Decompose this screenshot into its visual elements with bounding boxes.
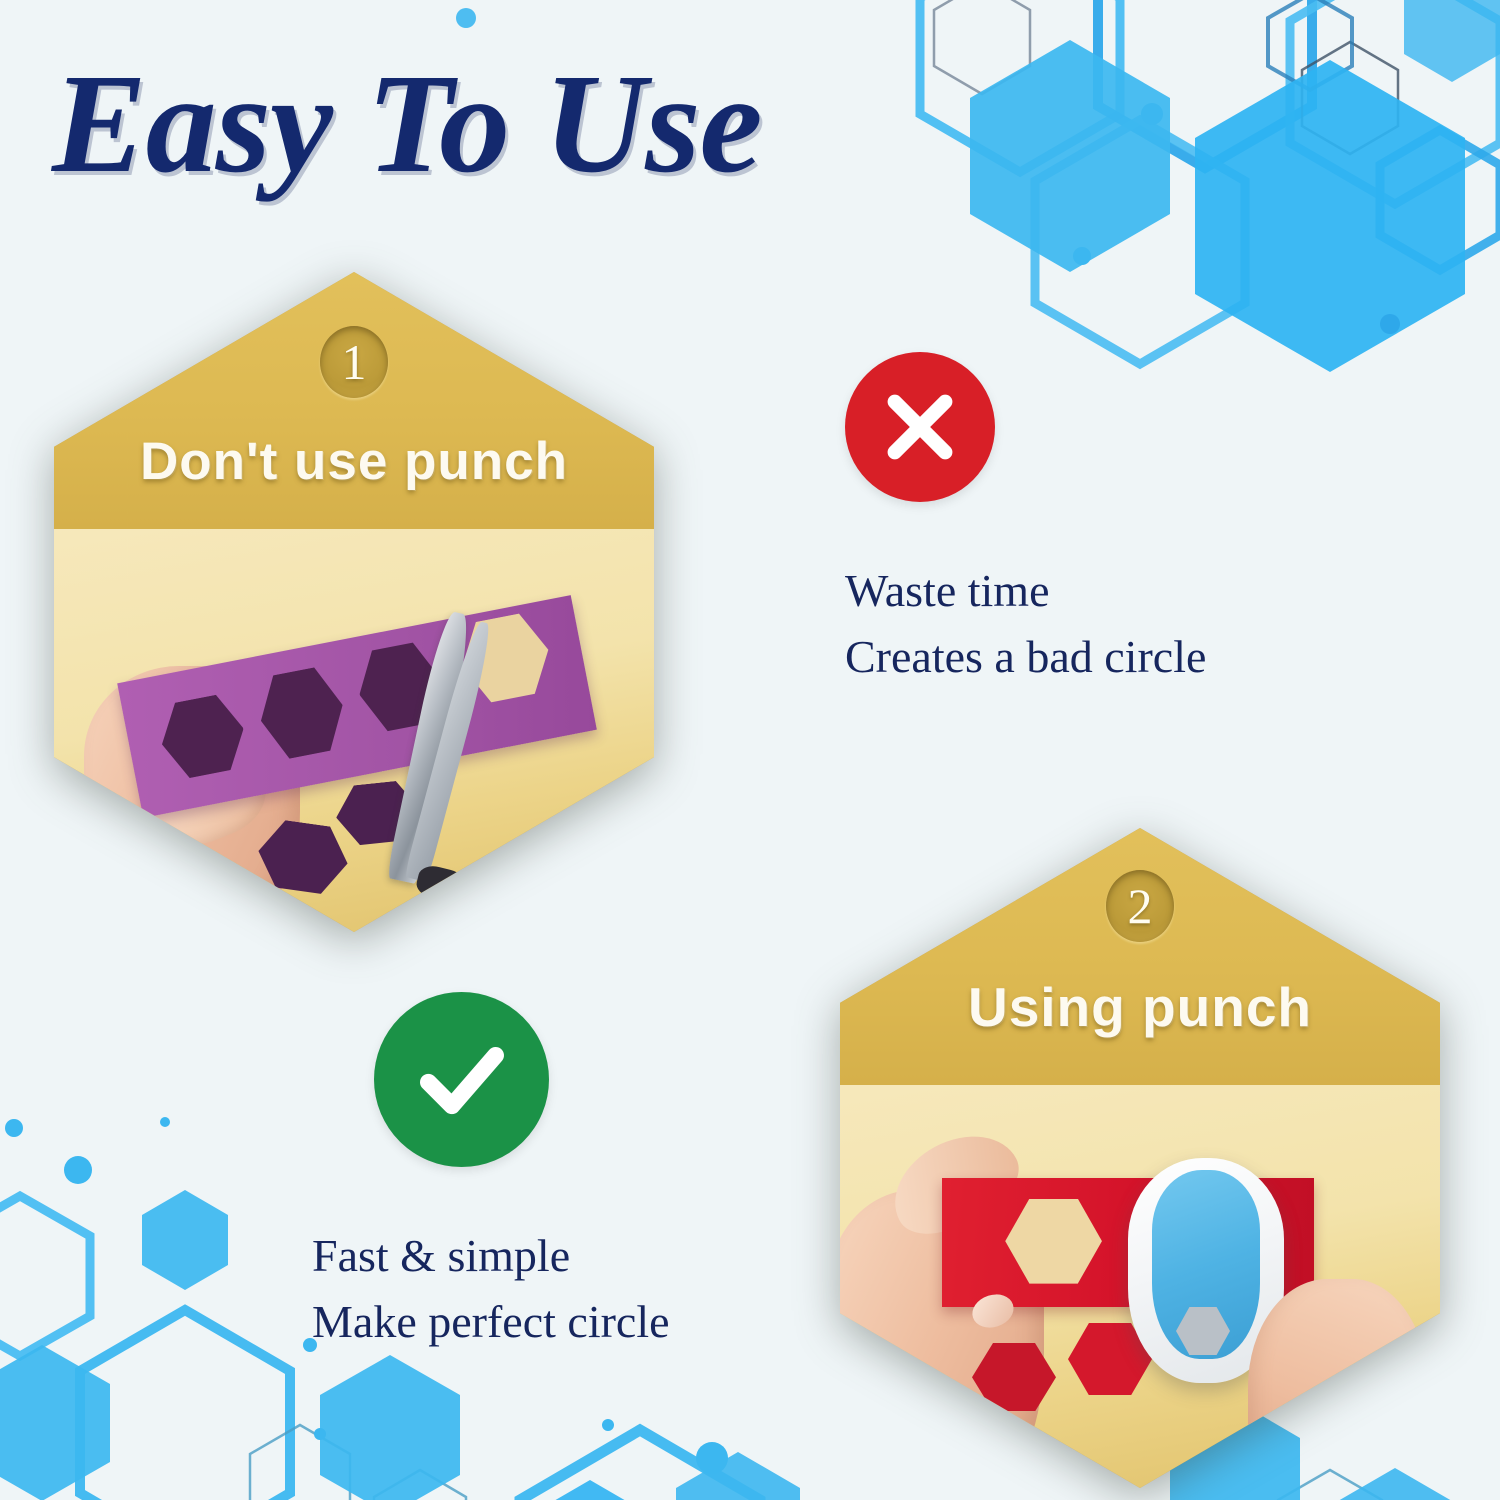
step-card-1-photo [54, 529, 654, 932]
red-hexagon-hole [1005, 1199, 1102, 1284]
check-icon [374, 992, 549, 1167]
step-number-badge-2: 2 [1106, 870, 1174, 942]
step-card-1-header: 1 Don't use punch [54, 272, 654, 529]
callout-positive-line-2: Make perfect circle [312, 1289, 670, 1355]
callout-negative-line-2: Creates a bad circle [845, 624, 1206, 690]
step-card-1[interactable]: 1 Don't use punch [54, 272, 654, 932]
cross-icon [845, 352, 995, 502]
step-card-2-shadow: 2 Using punch [840, 828, 1440, 1488]
cross-glyph [875, 382, 965, 472]
page-title: Easy To Use [52, 48, 952, 218]
fingernail-2b [1406, 1394, 1420, 1410]
photo-punch-method [840, 1085, 1440, 1488]
photo-scissors-method [54, 529, 654, 932]
step-number-badge-1: 1 [320, 326, 388, 398]
step-card-1-hexagon: 1 Don't use punch [54, 272, 654, 932]
callout-negative-line-1: Waste time [845, 558, 1206, 624]
hexagon-cutout-a [155, 691, 251, 782]
hexagon-cutout-b [253, 663, 351, 762]
step-card-2-hexagon: 2 Using punch [840, 828, 1440, 1488]
step-card-1-title: Don't use punch [140, 431, 568, 492]
hand-right-2 [1248, 1279, 1428, 1488]
step-card-2[interactable]: 2 Using punch [840, 828, 1440, 1488]
scissors-handle [414, 862, 468, 905]
infographic-canvas: Easy To Use 1 Don't use punch [0, 0, 1500, 1500]
callout-positive: Fast & simple Make perfect circle [312, 992, 670, 1355]
step-card-2-photo [840, 1085, 1440, 1488]
step-card-2-title: Using punch [968, 975, 1312, 1039]
callout-negative: Waste time Creates a bad circle [845, 352, 1206, 690]
purple-paper-strip [117, 595, 597, 818]
callout-positive-line-1: Fast & simple [312, 1223, 670, 1289]
fingernail-2a [1387, 1389, 1401, 1405]
step-card-1-shadow: 1 Don't use punch [54, 272, 654, 932]
check-glyph [406, 1024, 518, 1136]
step-card-2-header: 2 Using punch [840, 828, 1440, 1085]
